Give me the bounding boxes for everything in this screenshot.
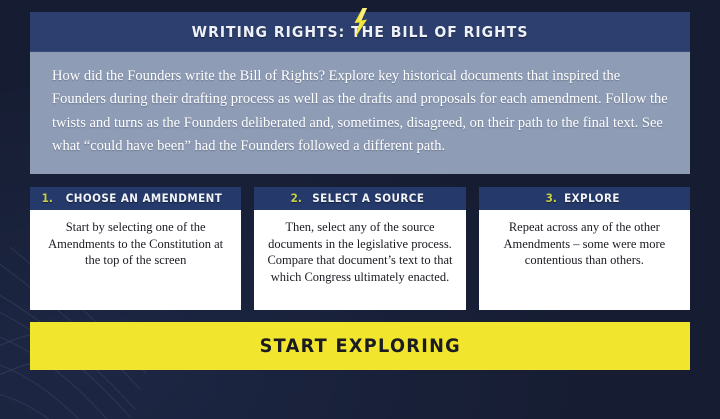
start-exploring-button[interactable]: START EXPLORING — [30, 322, 690, 370]
step-3-title: EXPLORE — [565, 191, 621, 205]
step-2-header: 2. SELECT A SOURCE — [254, 187, 465, 210]
steps-row: 1. CHOOSE AN AMENDMENT Start by selectin… — [30, 187, 690, 310]
step-card-1: 1. CHOOSE AN AMENDMENT Start by selectin… — [30, 187, 241, 310]
start-exploring-label: START EXPLORING — [259, 335, 460, 357]
step-2-body: Then, select any of the source documents… — [254, 210, 465, 310]
step-card-3: 3. EXPLORE Repeat across any of the othe… — [479, 187, 690, 310]
step-card-2: 2. SELECT A SOURCE Then, select any of t… — [254, 187, 465, 310]
step-3-body: Repeat across any of the other Amendment… — [479, 210, 690, 310]
description-text: How did the Founders write the Bill of R… — [52, 65, 668, 159]
step-1-header: 1. CHOOSE AN AMENDMENT — [30, 187, 241, 210]
step-1-body: Start by selecting one of the Amendments… — [30, 210, 241, 310]
step-2-number: 2. — [290, 191, 301, 205]
step-2-title: SELECT A SOURCE — [312, 191, 424, 205]
step-1-title: CHOOSE AN AMENDMENT — [66, 191, 223, 205]
description-panel: How did the Founders write the Bill of R… — [30, 52, 690, 174]
step-3-header: 3. EXPLORE — [479, 187, 690, 210]
intro-modal: WRITING RIGHTS: THE BILL OF RIGHTS How d… — [30, 12, 690, 370]
step-1-number: 1. — [41, 191, 52, 205]
step-3-number: 3. — [546, 191, 557, 205]
lightning-bolt-icon — [343, 8, 377, 38]
